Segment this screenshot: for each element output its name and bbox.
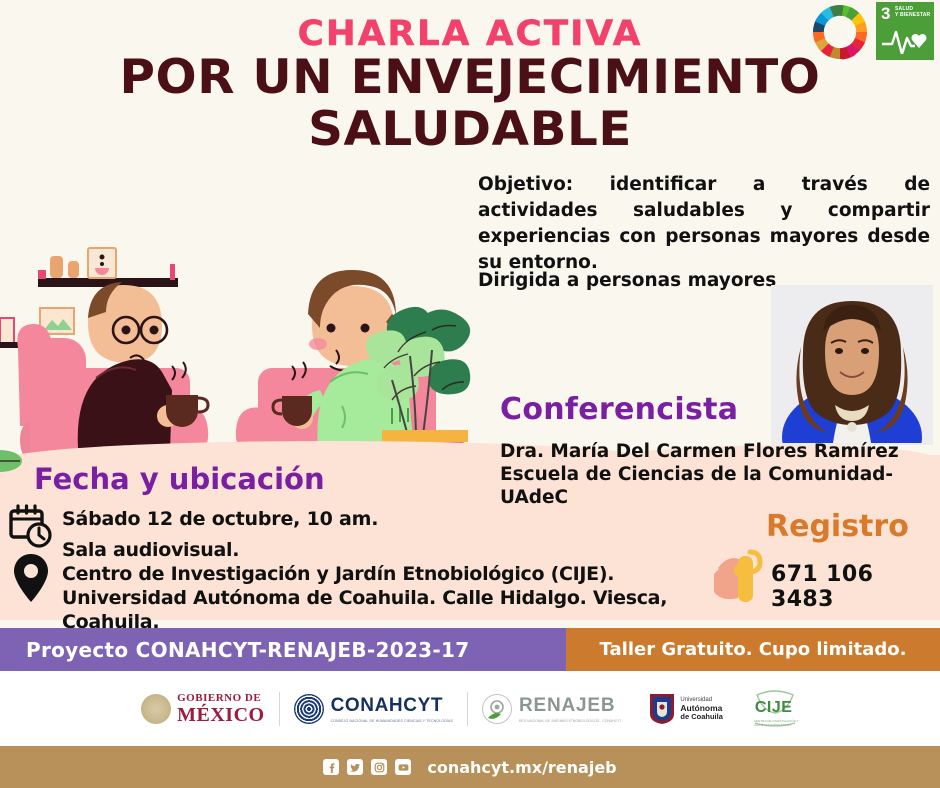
- uadec-shield-icon: [649, 693, 675, 725]
- speaker-affiliation: Escuela de Ciencias de la Comunidad- UAd…: [500, 463, 940, 509]
- registration-phone[interactable]: 671 106 3483: [771, 562, 940, 612]
- speaker-name: Dra. María Del Carmen Flores Ramírez: [500, 440, 940, 463]
- venue-line-2: Centro de Investigación y Jardín Etnobio…: [62, 562, 682, 586]
- venue-line-1: Sala audiovisual.: [62, 538, 682, 562]
- registration-heading: Registro: [766, 509, 909, 544]
- speaker-heading: Conferencista: [500, 392, 738, 427]
- title-line-1: POR UN ENVEJECIMIENTO: [0, 52, 940, 104]
- conahcyt-mark-icon: [294, 694, 324, 724]
- conahcyt-logo: CONAHCYT CONSEJO NACIONAL DE HUMANIDADES…: [280, 686, 467, 732]
- title-line-2: SALUDABLE: [0, 104, 940, 156]
- page-title: POR UN ENVEJECIMIENTO SALUDABLE: [0, 52, 940, 156]
- hand-holding-phone-icon: [714, 548, 778, 610]
- event-heading: Fecha y ubicación: [34, 462, 325, 496]
- twitter-icon[interactable]: [347, 759, 363, 775]
- leaf-decoration-icon: [0, 448, 28, 474]
- social-footer: conahcyt.mx/renajeb: [0, 746, 940, 788]
- gob-line-1: GOBIERNO DE: [177, 693, 264, 704]
- workshop-note: Taller Gratuito. Cupo limitado.: [566, 628, 940, 671]
- gob-line-2: MÉXICO: [177, 705, 264, 725]
- project-code: Proyecto CONAHCYT-RENAJEB-2023-17: [0, 628, 566, 671]
- event-venue: Sala audiovisual. Centro de Investigació…: [62, 538, 682, 634]
- renajeb-mark-icon: [482, 694, 512, 724]
- cije-logo: CIJE CENTRO DE INVESTIGACIÓN Y JARDÍN ET…: [737, 686, 813, 732]
- mexico-seal-icon: [141, 694, 171, 724]
- event-date: Sábado 12 de octubre, 10 am.: [62, 508, 378, 530]
- speaker-portrait: [771, 285, 933, 445]
- kicker-title: CHARLA ACTIVA: [0, 14, 940, 54]
- location-pin-icon: [12, 552, 50, 604]
- calendar-clock-icon: [8, 503, 54, 549]
- poster-root: 3 SALUDY BIENESTAR CHARLA ACTIVA POR UN …: [0, 0, 940, 788]
- conahcyt-subtitle: CONSEJO NACIONAL DE HUMANIDADES CIENCIAS…: [331, 719, 453, 723]
- gobierno-de-mexico-logo: GOBIERNO DE MÉXICO: [127, 686, 278, 732]
- renajeb-subtitle: RED NACIONAL DE JARDINES ETNOBIOLÓGICOS …: [519, 719, 621, 723]
- facebook-icon[interactable]: [323, 759, 339, 775]
- cije-name: CIJE: [755, 699, 793, 717]
- uadec-line-3: de Coahuila: [680, 713, 723, 722]
- uadec-logo: Universidad Autónoma de Coahuila: [635, 686, 737, 732]
- illustration-two-elderly-people: [0, 118, 500, 478]
- renajeb-logo: RENAJEB RED NACIONAL DE JARDINES ETNOBIO…: [468, 686, 635, 732]
- renajeb-name: RENAJEB: [519, 695, 621, 717]
- venue-line-3: Universidad Autónoma de Coahuila. Calle …: [62, 586, 682, 634]
- objective-text: Objetivo: identificar a través de activi…: [478, 172, 930, 276]
- instagram-icon[interactable]: [371, 759, 387, 775]
- sponsor-logos-strip: GOBIERNO DE MÉXICO CONAHCYT CONSEJO NACI…: [0, 671, 940, 746]
- website-url[interactable]: conahcyt.mx/renajeb: [427, 758, 616, 777]
- project-banner: Proyecto CONAHCYT-RENAJEB-2023-17 Taller…: [0, 628, 940, 671]
- youtube-icon[interactable]: [395, 759, 411, 775]
- speaker-details: Dra. María Del Carmen Flores Ramírez Esc…: [500, 440, 940, 509]
- conahcyt-name: CONAHCYT: [331, 695, 453, 717]
- cije-subtitle: CENTRO DE INVESTIGACIÓN Y JARDÍN ETNOBIO…: [754, 719, 799, 727]
